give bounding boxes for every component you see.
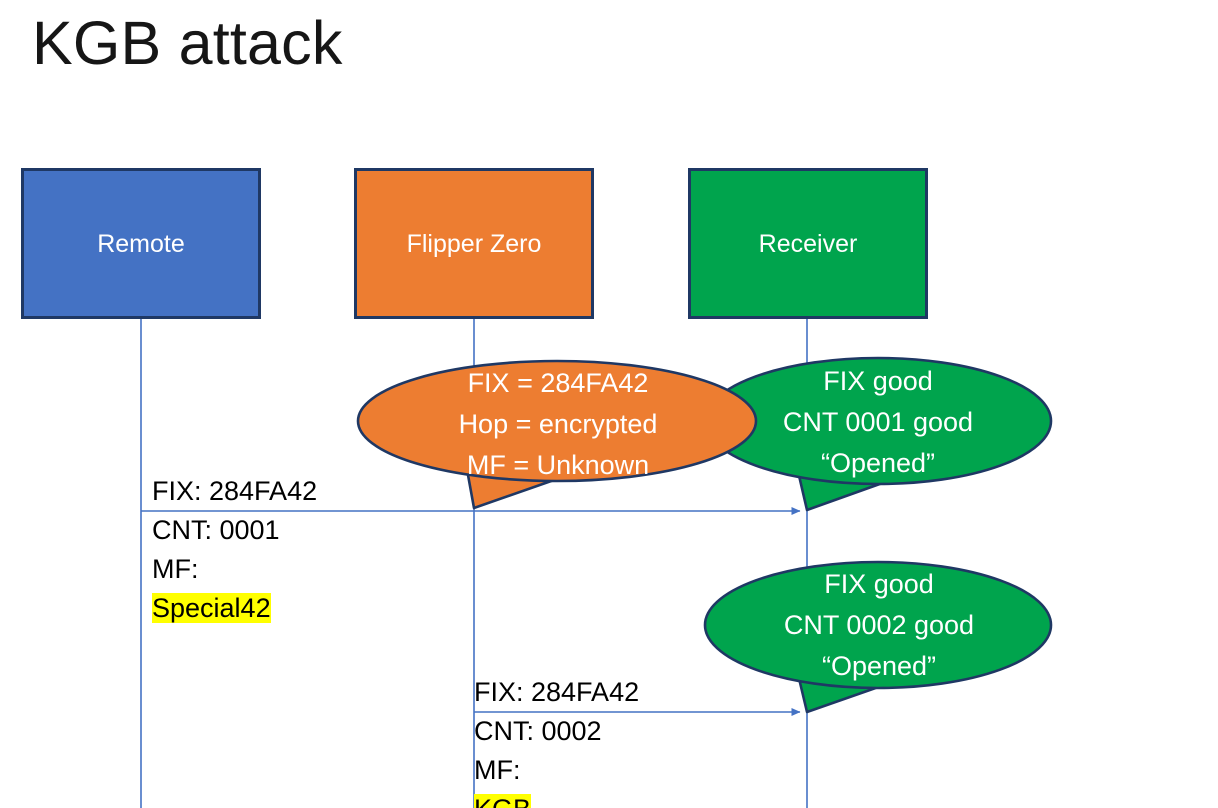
message-1-mf: MF: Special42 <box>152 550 317 628</box>
message-1-cnt: CNT: 0001 <box>152 511 317 550</box>
message-1-fix: FIX: 284FA42 <box>152 472 317 511</box>
actor-label-receiver: Receiver <box>759 229 858 259</box>
message-label-1: FIX: 284FA42 CNT: 0001 MF: Special42 <box>152 472 317 628</box>
callout-flipper-capture <box>358 361 756 508</box>
actor-box-remote[interactable]: Remote <box>21 168 261 319</box>
message-label-2: FIX: 284FA42 CNT: 0002 MF: KGB <box>474 673 639 808</box>
callout-receiver-first <box>705 358 1051 510</box>
message-2-cnt: CNT: 0002 <box>474 712 639 751</box>
message-2-mf-highlight: KGB <box>474 794 531 808</box>
actor-box-receiver[interactable]: Receiver <box>688 168 928 319</box>
slide-canvas: KGB attack R <box>0 0 1218 808</box>
message-2-mf-prefix: MF: <box>474 751 639 790</box>
actor-box-flipper[interactable]: Flipper Zero <box>354 168 594 319</box>
message-1-mf-prefix: MF: <box>152 550 317 589</box>
actor-label-remote: Remote <box>97 229 185 259</box>
message-2-fix: FIX: 284FA42 <box>474 673 639 712</box>
callout-receiver-second <box>705 562 1051 712</box>
message-1-mf-highlight: Special42 <box>152 593 271 623</box>
actor-label-flipper: Flipper Zero <box>407 229 542 259</box>
message-2-mf: MF: KGB <box>474 751 639 808</box>
